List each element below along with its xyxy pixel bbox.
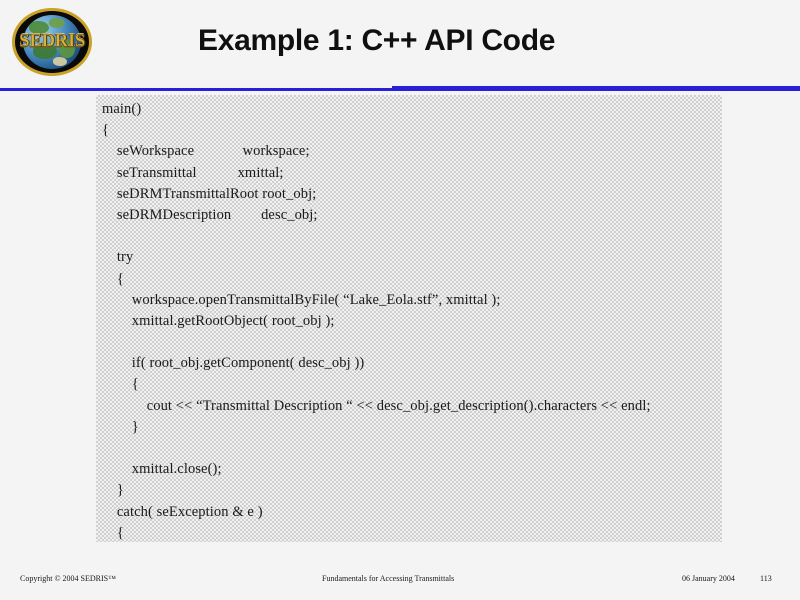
logo-wordmark: SEDRIS xyxy=(15,31,89,53)
header-rule-right xyxy=(392,86,800,91)
code-line: xmittal.close(); xyxy=(102,459,722,480)
code-line: cout << “Transmittal Description “ << de… xyxy=(102,396,722,417)
code-line: xmittal.getRootObject( root_obj ); xyxy=(102,311,722,332)
page-title: Example 1: C++ API Code xyxy=(198,24,555,58)
footer-subtitle: Fundamentals for Accessing Transmittals xyxy=(322,574,454,583)
footer-copyright: Copyright © 2004 SEDRIS™ xyxy=(20,574,116,583)
code-line: { xyxy=(102,523,722,542)
footer-page-number: 113 xyxy=(760,574,772,583)
logo-disc: SEDRIS xyxy=(12,8,92,76)
code-line: { xyxy=(102,120,722,141)
code-line xyxy=(102,438,722,459)
code-line: try xyxy=(102,247,722,268)
code-line: } xyxy=(102,480,722,501)
code-line xyxy=(102,332,722,353)
footer: Copyright © 2004 SEDRIS™ Fundamentals fo… xyxy=(0,572,800,588)
code-line: seDRMDescription desc_obj; xyxy=(102,205,722,226)
code-line xyxy=(102,226,722,247)
sedris-logo: SEDRIS xyxy=(8,6,96,78)
globe-landmass xyxy=(49,18,65,28)
globe-landmass xyxy=(53,57,67,66)
slide: SEDRIS Example 1: C++ API Code main(){ s… xyxy=(0,0,800,600)
code-line: { xyxy=(102,269,722,290)
code-panel: main(){ seWorkspace workspace; seTransmi… xyxy=(96,95,722,542)
code-line: if( root_obj.getComponent( desc_obj )) xyxy=(102,353,722,374)
code-line: seDRMTransmittalRoot root_obj; xyxy=(102,184,722,205)
header-rule-left xyxy=(0,88,392,91)
code-line: catch( seException & e ) xyxy=(102,502,722,523)
code-line: main() xyxy=(102,99,722,120)
code-line: { xyxy=(102,374,722,395)
code-listing: main(){ seWorkspace workspace; seTransmi… xyxy=(102,99,722,542)
footer-date: 06 January 2004 xyxy=(682,574,735,583)
code-line: workspace.openTransmittalByFile( “Lake_E… xyxy=(102,290,722,311)
code-line: seWorkspace workspace; xyxy=(102,141,722,162)
code-line: seTransmittal xmittal; xyxy=(102,163,722,184)
code-line: } xyxy=(102,417,722,438)
